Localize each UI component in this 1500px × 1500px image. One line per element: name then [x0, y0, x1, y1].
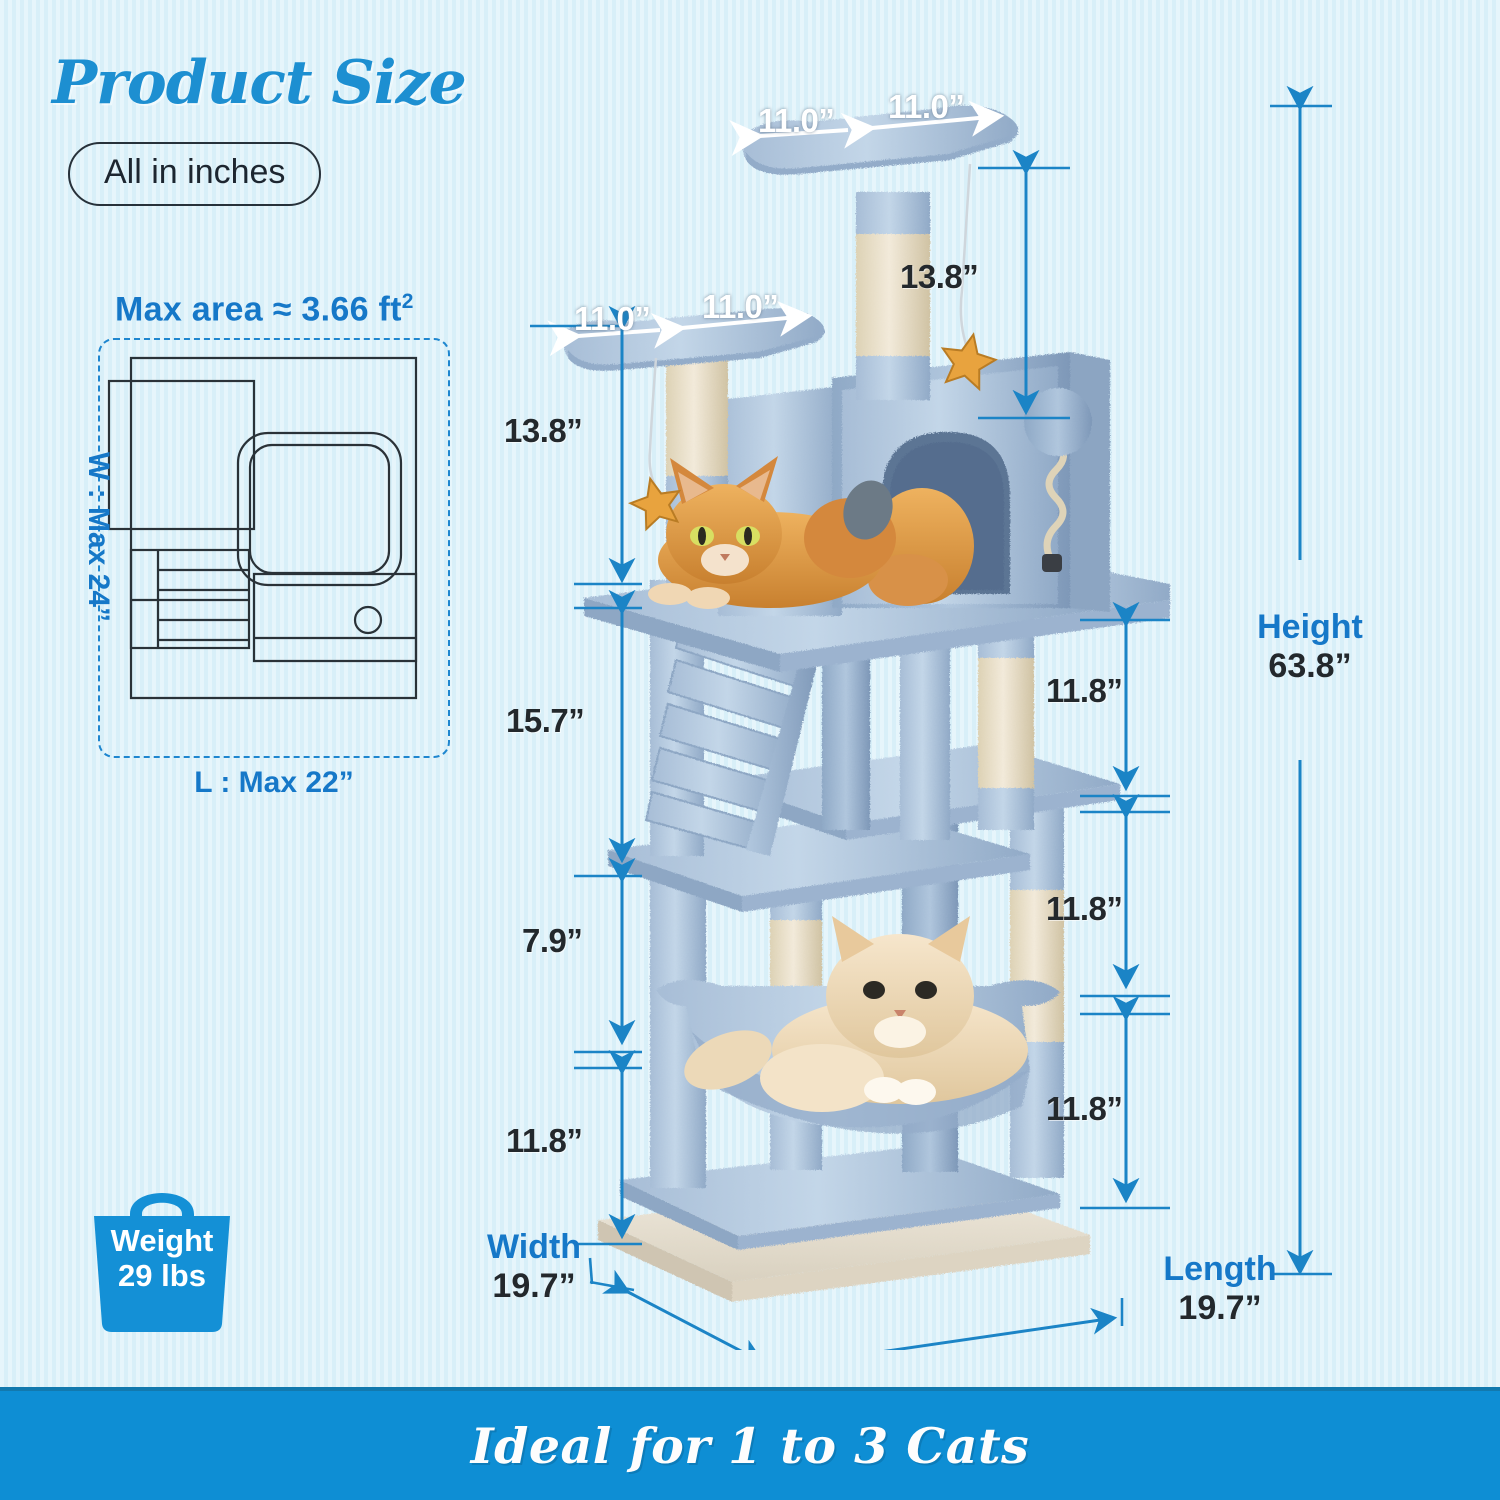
weight-badge: Weight 29 lbs — [72, 1172, 252, 1342]
dim-left-upper: 13.8” — [504, 412, 582, 450]
product-image-with-dimensions: 11.0” 11.0” 11.0” 11.0” 13.8” 15.7” 7.9”… — [470, 60, 1430, 1350]
page-title: Product Size — [52, 48, 466, 118]
dim-left-mid: 15.7” — [506, 702, 584, 740]
weight-value: 29 lbs — [118, 1258, 206, 1293]
length-value: 19.7” — [1110, 1289, 1330, 1328]
max-area-title: Max area ≈ 3.66 ft2 — [115, 290, 414, 329]
weight-badge-text: Weight 29 lbs — [72, 1224, 252, 1293]
max-area-text: Max area ≈ 3.66 ft — [115, 290, 402, 328]
cat-tree-illustration — [470, 60, 1430, 1350]
footprint-width-label: W : Max 24” — [81, 427, 115, 647]
dim-left-lower-b: 11.8” — [506, 1122, 582, 1160]
dim-right-a: 11.8” — [1046, 672, 1122, 710]
dim-right-c: 11.8” — [1046, 1090, 1122, 1128]
height-label: Height 63.8” — [1210, 608, 1410, 686]
dim-top-platform-left: 11.0” — [758, 102, 834, 140]
footprint-length-label: L : Max 22” — [98, 766, 450, 800]
width-label: Width 19.7” — [424, 1228, 644, 1306]
height-value: 63.8” — [1210, 647, 1410, 686]
floorplan-icon — [98, 338, 450, 758]
footer-text: Ideal for 1 to 3 Cats — [0, 1417, 1500, 1475]
footer-banner: Ideal for 1 to 3 Cats — [0, 1387, 1500, 1500]
length-key: Length — [1110, 1250, 1330, 1289]
unit-pill: All in inches — [68, 142, 321, 206]
dim-left-lower-a: 7.9” — [522, 922, 582, 960]
width-key: Width — [424, 1228, 644, 1267]
max-area-superscript: 2 — [402, 290, 414, 313]
weight-label: Weight — [111, 1223, 214, 1258]
height-key: Height — [1210, 608, 1410, 647]
width-value: 19.7” — [424, 1267, 644, 1306]
dim-mid-platform-right: 11.0” — [702, 288, 778, 326]
length-label: Length 19.7” — [1110, 1250, 1330, 1328]
dim-top-platform-right: 11.0” — [888, 88, 964, 126]
dim-mid-platform-left: 11.0” — [574, 300, 650, 338]
dim-right-b: 11.8” — [1046, 890, 1122, 928]
dim-right-top: 13.8” — [900, 258, 978, 296]
